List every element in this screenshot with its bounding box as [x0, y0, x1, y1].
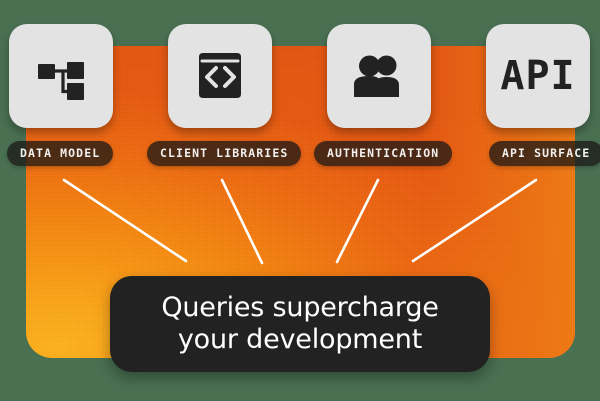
pill-client-libraries[interactable]: CLIENT LIBRARIES: [147, 141, 301, 166]
feature-card-data-model[interactable]: [9, 24, 113, 128]
feature-card-authentication[interactable]: [327, 24, 431, 128]
pill-label-client-libraries: CLIENT LIBRARIES: [160, 148, 288, 160]
pill-label-api-surface: API SURFACE: [502, 148, 590, 160]
caption-line-1: Queries supercharge: [161, 292, 438, 323]
illustration-canvas: API DATA MODEL CLIENT LIBRARIES AUTHENTI…: [0, 0, 600, 401]
feature-card-client-libraries[interactable]: [168, 24, 272, 128]
pill-api-surface[interactable]: API SURFACE: [489, 141, 600, 166]
caption-line-2: your development: [178, 324, 422, 355]
caption-text: Queries supercharge your development: [147, 292, 452, 356]
feature-card-api-surface[interactable]: API: [486, 24, 590, 128]
code-book-icon: [192, 50, 248, 102]
caption-box: Queries supercharge your development: [110, 276, 490, 372]
users-icon: [350, 53, 408, 99]
nodes-hierarchy-icon: [33, 48, 89, 104]
pill-data-model[interactable]: DATA MODEL: [7, 141, 113, 166]
pill-authentication[interactable]: AUTHENTICATION: [314, 141, 452, 166]
api-text-icon: API: [500, 56, 575, 96]
pill-label-authentication: AUTHENTICATION: [327, 148, 439, 160]
pill-label-data-model: DATA MODEL: [20, 148, 100, 160]
